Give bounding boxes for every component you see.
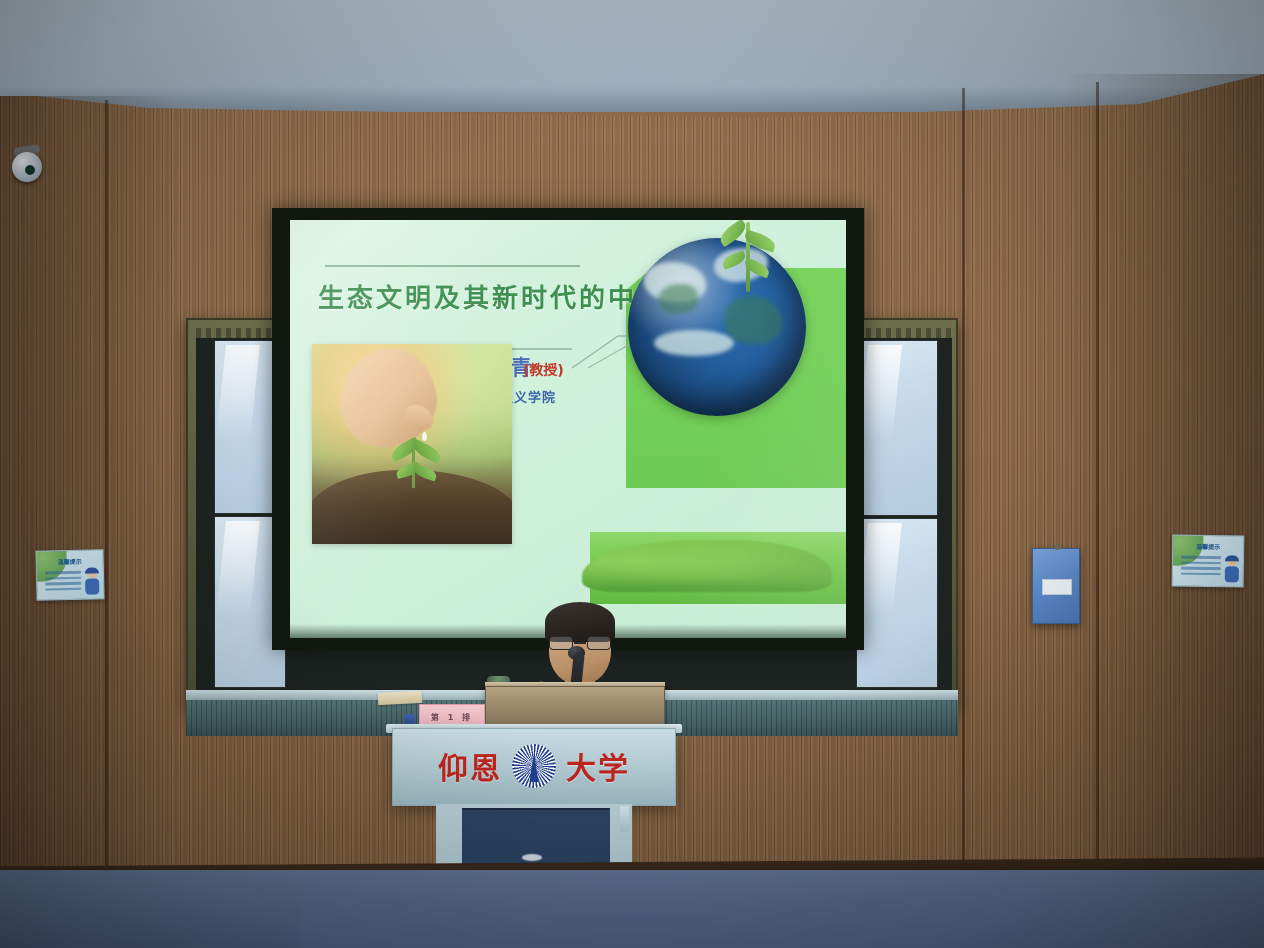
box-label (1042, 579, 1072, 595)
water-drop-icon (422, 432, 427, 441)
poster-title: 温馨提示 (37, 556, 103, 566)
poster-title: 温馨提示 (1173, 542, 1243, 552)
wall-poster-right: 温馨提示 (1172, 534, 1245, 587)
mount-screw (1054, 544, 1060, 550)
wall-seam (105, 100, 108, 870)
panel-gloss (216, 345, 260, 440)
whiteboard-panel-right-top[interactable] (856, 340, 938, 516)
panel-gloss (216, 521, 260, 615)
hand-shape (329, 344, 448, 457)
poster-figure-icon (1224, 556, 1240, 582)
wall-control-box[interactable] (1032, 548, 1080, 624)
camera-lens (25, 165, 35, 175)
slide-image-earth-globe (628, 238, 806, 416)
slide-image-watering-seedling (312, 344, 512, 544)
projection-screen: 生态文明及其新时代的中国实践 熊 小 青 (教授) 仰恩大学马克思主义学院 (290, 220, 846, 638)
sunburst-logo-icon (512, 744, 556, 788)
podium-side-fitting (620, 806, 629, 832)
camera-dome (12, 152, 42, 182)
globe-landmass (658, 284, 698, 314)
globe-landmass (724, 296, 782, 344)
poster-figure-icon (84, 568, 101, 594)
poster-body-lines (1181, 556, 1221, 579)
seedling-leaf (411, 439, 444, 464)
lecture-hall-scene: 温馨提示 温馨提示 (0, 0, 1264, 948)
security-camera-icon (10, 146, 44, 182)
whiteboard-panel-right-bottom[interactable] (856, 518, 938, 688)
glasses-lens-right (587, 636, 611, 650)
panel-gloss (858, 523, 902, 615)
slide-rule-top (325, 265, 580, 267)
projection-screen-frame: 生态文明及其新时代的中国实践 熊 小 青 (教授) 仰恩大学马克思主义学院 (272, 208, 864, 650)
reflection-glint (522, 854, 542, 861)
panel-gloss (858, 345, 902, 441)
slide-speaker-title: (教授) (523, 360, 564, 380)
papers-stack (378, 691, 423, 705)
carpet-floor-left (0, 880, 300, 948)
podium-word-right: 大学 (566, 744, 630, 788)
glasses-bridge (574, 642, 586, 644)
wall-seam (962, 88, 965, 868)
wall-poster-left: 温馨提示 (35, 549, 104, 600)
name-card-text: 第 1 排 (431, 712, 473, 723)
wall-seam (1096, 82, 1099, 868)
poster-body-lines (45, 571, 81, 594)
globe-cloud (654, 330, 734, 356)
podium-branding: 仰恩 大学 (392, 740, 676, 792)
podium-word-left: 仰恩 (438, 744, 502, 788)
